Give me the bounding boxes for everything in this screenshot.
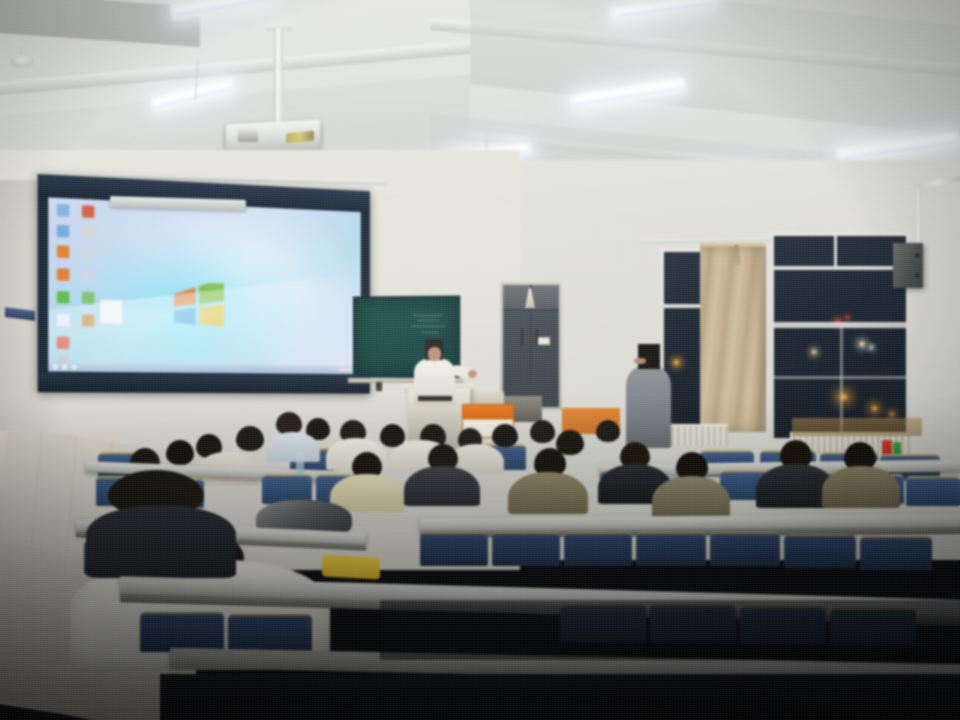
desktop-dialog — [99, 298, 124, 325]
student-head — [166, 440, 194, 465]
student-torso — [822, 466, 900, 508]
windows-logo-icon — [170, 282, 228, 335]
windows-taskbar — [48, 362, 360, 374]
student-torso — [508, 472, 588, 514]
lecturer-hand — [468, 370, 477, 378]
student-torso — [404, 466, 480, 506]
student-torso — [266, 432, 320, 462]
seating-shadow — [380, 600, 960, 660]
student-head — [530, 420, 555, 443]
media-player-icon — [82, 226, 95, 239]
student-torso — [652, 476, 730, 518]
window-right — [770, 232, 910, 442]
door-handle[interactable] — [536, 329, 538, 345]
projector-mount-pole — [274, 28, 283, 132]
projected-desktop — [48, 197, 360, 374]
seat[interactable] — [420, 532, 488, 566]
seat[interactable] — [140, 612, 224, 652]
standing-student-neck — [634, 358, 646, 364]
room-sign — [537, 337, 550, 345]
recycle-bin-icon — [82, 205, 95, 218]
seat[interactable] — [228, 614, 312, 654]
standing-student-head — [638, 344, 660, 369]
computer-icon — [57, 204, 70, 217]
window-curtain — [700, 247, 766, 432]
browser-icon — [57, 268, 70, 281]
student-head — [596, 420, 620, 442]
lecturer-belt — [418, 396, 452, 401]
wall-cabinet — [792, 418, 922, 436]
seat[interactable] — [564, 532, 632, 566]
text-file-icon — [57, 314, 70, 327]
lecturer-face — [428, 347, 441, 361]
messenger-icon — [57, 291, 70, 304]
chalk-tray-object — [376, 382, 382, 391]
projector-lens-icon — [238, 128, 258, 142]
pencil-case — [322, 554, 380, 579]
wall-speaker — [893, 243, 923, 288]
door-panel[interactable] — [503, 285, 559, 407]
seat[interactable] — [636, 532, 706, 566]
door-handle[interactable] — [521, 329, 523, 345]
screen-bottom-bar — [38, 374, 370, 394]
notes-icon — [82, 269, 95, 282]
door-center-mullion — [530, 313, 532, 407]
standing-student-torso — [626, 366, 671, 448]
desk-understructure — [160, 674, 960, 720]
student-head — [236, 426, 264, 451]
smoke-detector-icon — [10, 56, 34, 67]
seat[interactable] — [710, 532, 780, 566]
lecture-hall-photo — [0, 0, 960, 720]
tool-icon — [57, 355, 70, 368]
folder-icon — [57, 225, 70, 238]
seat[interactable] — [906, 476, 960, 506]
document-icon — [82, 246, 95, 259]
ceiling-panel-right — [470, 0, 960, 136]
seat[interactable] — [860, 536, 932, 570]
student-torso — [86, 506, 236, 578]
app-icon-orange — [57, 245, 70, 258]
archive-icon — [82, 314, 95, 327]
chat-icon — [82, 292, 95, 305]
classroom-door[interactable] — [500, 282, 562, 410]
student-head — [492, 424, 518, 447]
seat[interactable] — [784, 534, 856, 568]
seat[interactable] — [492, 532, 560, 566]
water-bottle — [296, 452, 304, 476]
wall-radiator — [668, 424, 728, 446]
installer-icon — [57, 336, 70, 349]
